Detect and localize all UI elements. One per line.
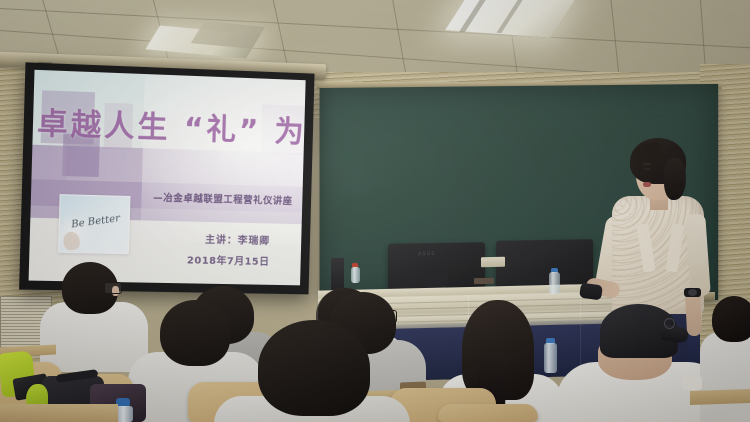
- podium-object: [474, 278, 494, 284]
- speaker-hair-back: [664, 158, 686, 200]
- speaker-wristwatch-face: [688, 289, 697, 296]
- slide-date: 2018年7月15日: [29, 248, 270, 268]
- baseball-cap-button: [664, 318, 675, 329]
- tissue-pack: [682, 376, 702, 390]
- speaker-eye: [644, 168, 650, 170]
- monitor-left-brand: ASUS: [418, 251, 435, 257]
- projection-screen: 卓越人生 “礼” 为基石 —冶金卓越联盟工程营礼仪讲座 Be Better 主讲…: [19, 62, 314, 294]
- water-bottle-c: [544, 343, 557, 373]
- student-far-right-body: [700, 332, 750, 422]
- podium-small-box: [481, 257, 505, 267]
- slide-shape-square-c: [31, 145, 67, 180]
- slide-surface: 卓越人生 “礼” 为基石 —冶金卓越联盟工程营礼仪讲座 Be Better 主讲…: [29, 70, 306, 286]
- slide-photo-be-better: Be Better: [58, 194, 130, 254]
- slide-title: 卓越人生 “礼” 为基石: [37, 98, 305, 151]
- speaker-hand-with-presenter: [579, 283, 603, 301]
- projector-hotspot: [140, 70, 306, 249]
- student-back-row-glasses-icon: [104, 282, 122, 294]
- monitor-left: ASUS: [388, 242, 485, 292]
- student-center-foreground-head: [258, 320, 370, 416]
- podium-speaker-box-left: [331, 258, 344, 291]
- speaker-mouth: [643, 182, 651, 187]
- water-bottle-a: [351, 267, 360, 283]
- desk-front-left: [0, 404, 118, 422]
- chair-center-3: [438, 404, 538, 422]
- student-center-gray-glasses-icon: [378, 310, 397, 323]
- desk-right: [690, 389, 750, 405]
- classroom-photo: 卓越人生 “礼” 为基石 —冶金卓越联盟工程营礼仪讲座 Be Better 主讲…: [0, 0, 750, 422]
- water-bottle-b: [549, 272, 560, 294]
- monitor-right: [496, 239, 593, 291]
- student-far-right-head: [712, 296, 750, 342]
- student-left-white-head: [160, 300, 230, 366]
